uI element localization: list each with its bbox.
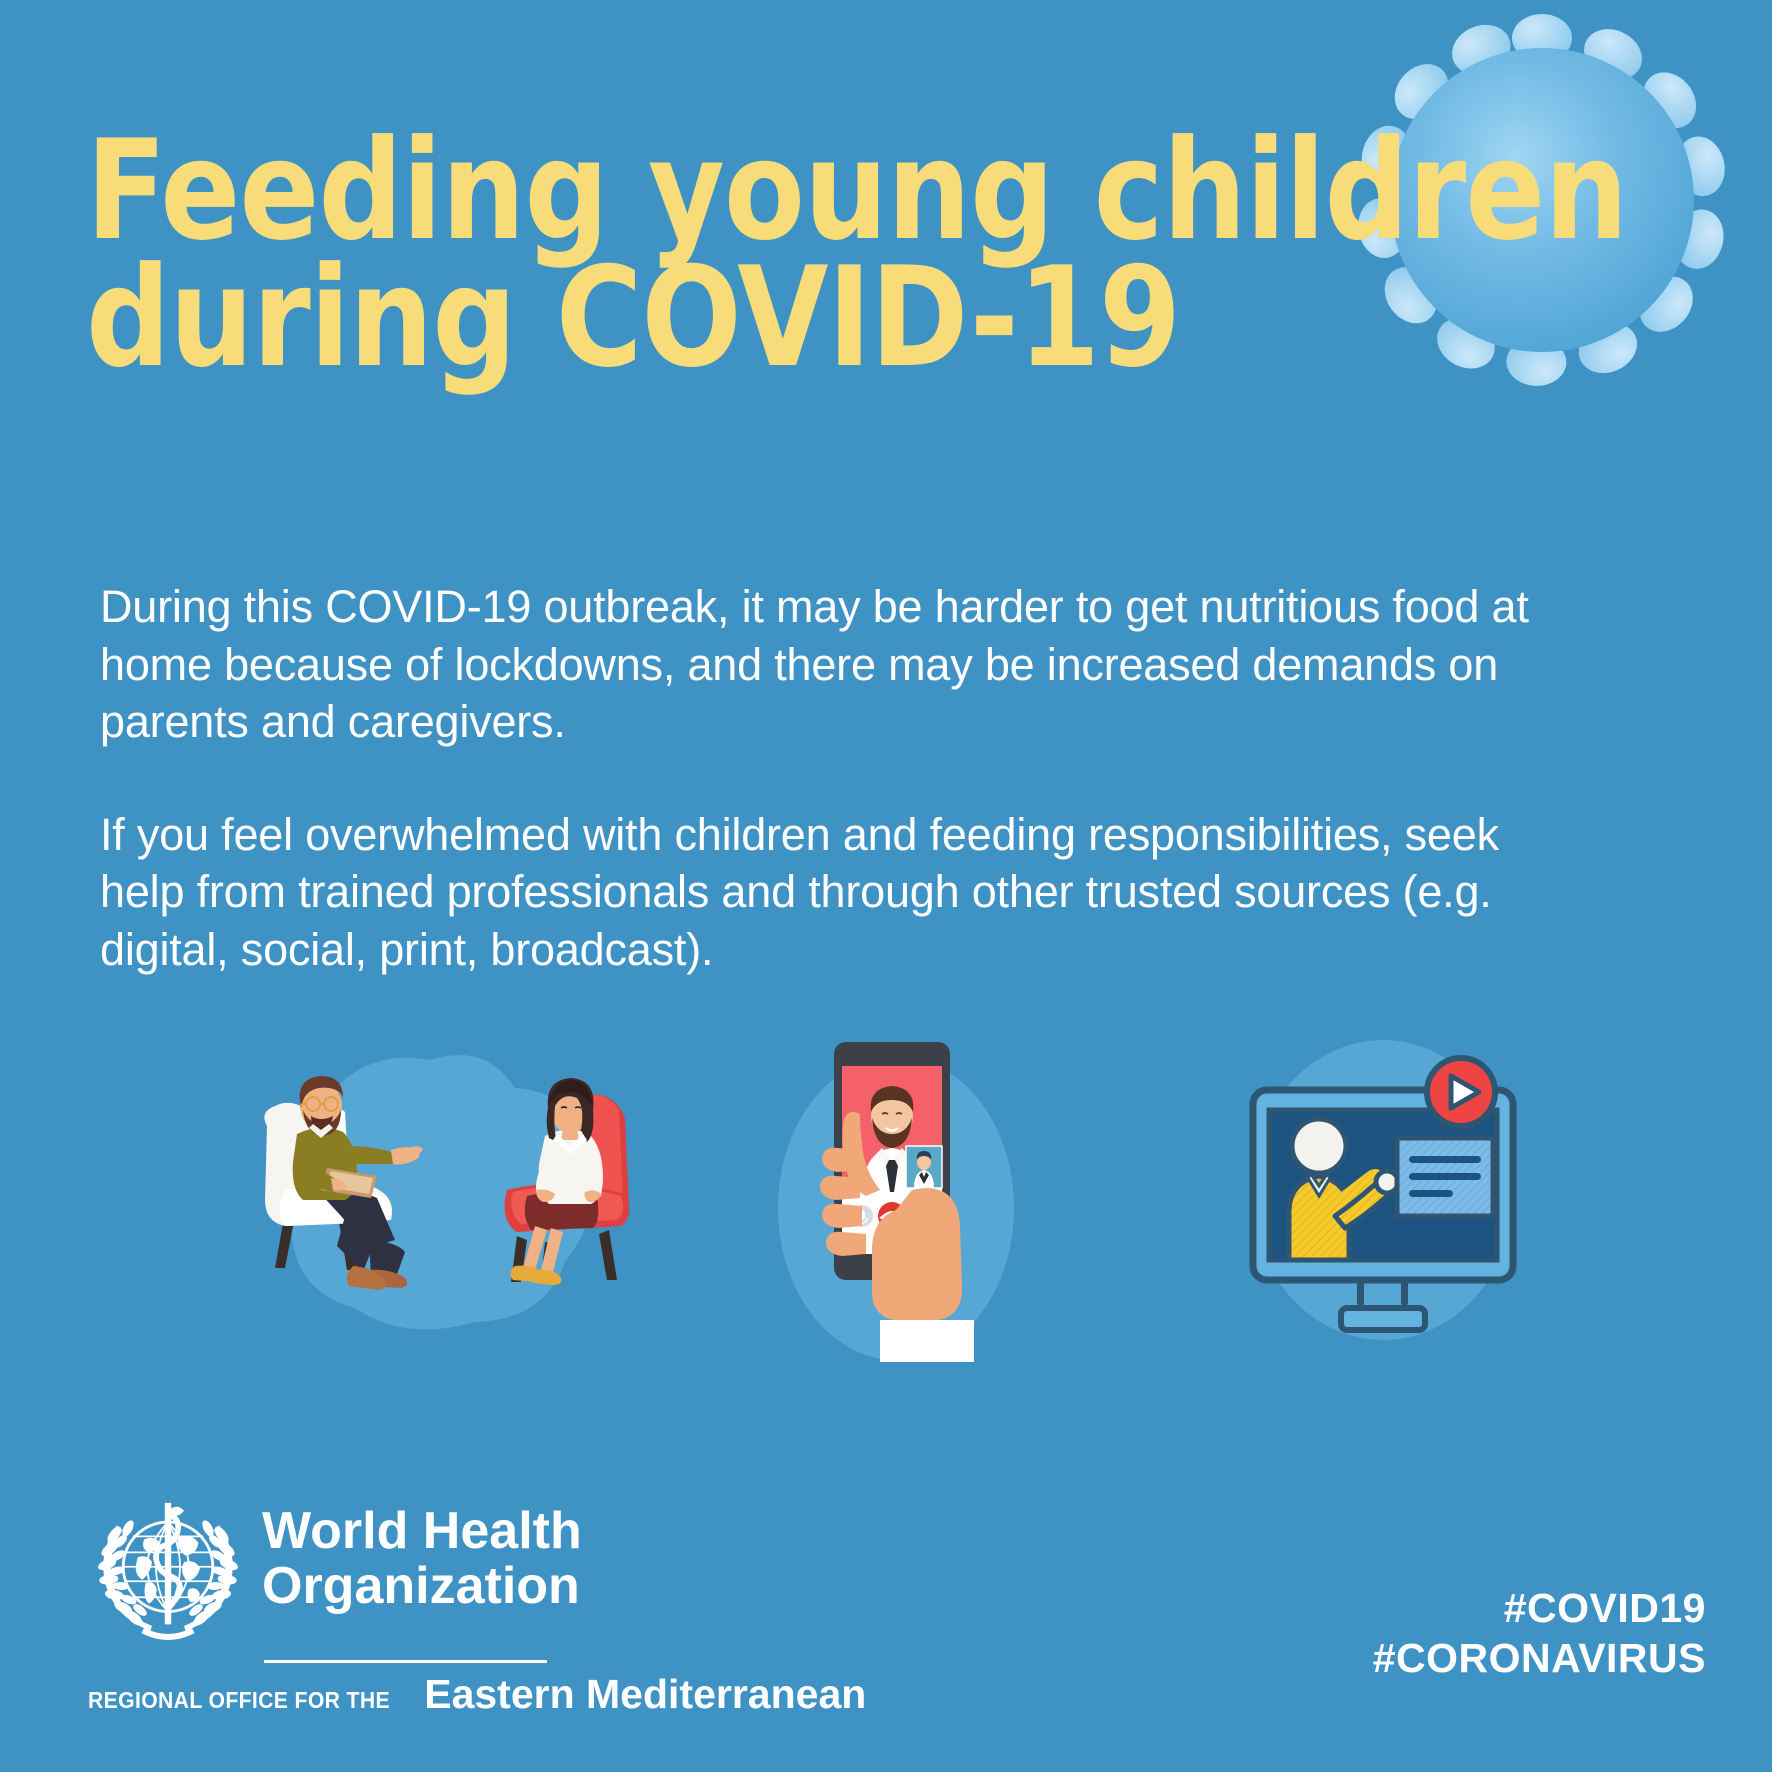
infographic-poster: Feeding young children during COVID-19 D… xyxy=(0,0,1772,1772)
text-line-2 xyxy=(1409,1173,1481,1180)
text-line-3 xyxy=(1409,1190,1453,1197)
hashtag-coronavirus: #CORONAVIRUS xyxy=(1373,1633,1706,1683)
who-organization-name: World Health Organization xyxy=(262,1490,582,1613)
shirt-cuff xyxy=(880,1320,974,1362)
who-name-line-2: Organization xyxy=(262,1559,582,1614)
monitor-base xyxy=(1341,1308,1425,1330)
content-panel xyxy=(1397,1138,1493,1216)
who-emblem xyxy=(88,1490,248,1650)
play-button-badge xyxy=(1427,1058,1495,1126)
picture-in-picture xyxy=(906,1146,942,1188)
page-title: Feeding young children during COVID-19 xyxy=(86,128,1376,382)
hashtag-block: #COVID19 #CORONAVIRUS xyxy=(1373,1583,1706,1683)
paragraph-2: If you feel overwhelmed with children an… xyxy=(100,806,1560,979)
presenter-head xyxy=(1292,1119,1346,1173)
who-name-line-1: World Health xyxy=(262,1504,582,1559)
regional-office-name: Eastern Mediterranean xyxy=(424,1671,866,1718)
video-call-illustration xyxy=(760,1020,1050,1400)
title-line-1: Feeding young children xyxy=(86,128,1312,255)
title-line-2: during COVID-19 xyxy=(86,255,1312,382)
logo-divider xyxy=(264,1660,547,1663)
paragraph-1: During this COVID-19 outbreak, it may be… xyxy=(100,578,1560,751)
body-text: During this COVID-19 outbreak, it may be… xyxy=(100,578,1560,979)
online-webinar-illustration xyxy=(1215,1030,1545,1370)
text-line-1 xyxy=(1409,1156,1481,1163)
who-regional-office: REGIONAL OFFICE FOR THE Eastern Mediterr… xyxy=(88,1671,866,1718)
counseling-session-illustration xyxy=(245,1030,665,1390)
illustration-row xyxy=(0,1030,1772,1390)
regional-office-prefix: REGIONAL OFFICE FOR THE xyxy=(88,1687,390,1714)
who-logo: World Health Organization REGIONAL OFFIC… xyxy=(88,1490,866,1718)
hashtag-covid19: #COVID19 xyxy=(1373,1583,1706,1633)
